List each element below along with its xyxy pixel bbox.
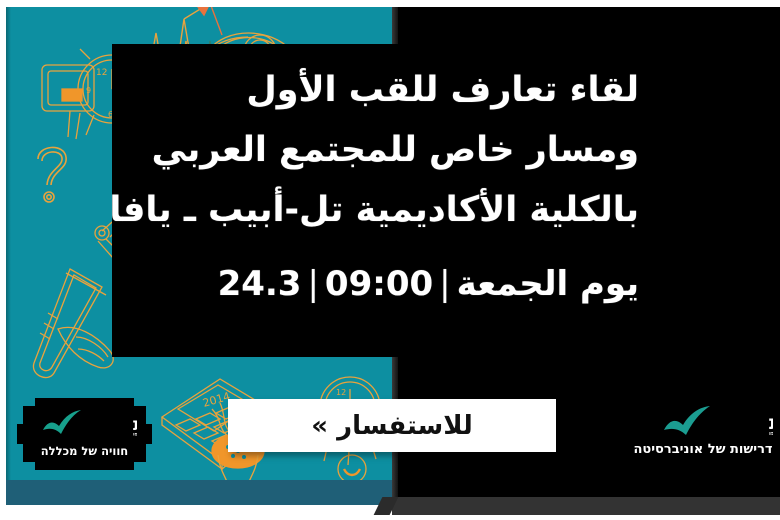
poster-canvas: 12 3 6 9: [0, 0, 780, 520]
svg-text:12: 12: [96, 68, 107, 78]
black-bottom-bar: [392, 497, 780, 515]
event-date: 24.3: [218, 264, 302, 304]
teal-bottom-strip: [6, 480, 395, 505]
event-time: 09:00: [325, 264, 433, 304]
logo-right-wordmark: האקדמית תל-אביב-יפו: [658, 406, 773, 436]
headline-line-1: لقاء تعارف للقب الأول: [112, 60, 639, 120]
logo-left[interactable]: האקדמית תל-אביב-יפו חוויה של מכללה: [17, 398, 152, 470]
logo-right-tagline: דרישות של אוניברסיטה: [630, 442, 776, 457]
event-date-line: يوم الجمعة|09:00|24.3: [112, 256, 639, 312]
date-separator-1: |: [433, 256, 456, 312]
date-separator-2: |: [301, 256, 324, 312]
headline-line-2: ومسار خاص للمجتمع العربي: [112, 120, 639, 180]
svg-text:תל-אביב-יפו: תל-אביב-יפו: [769, 431, 773, 436]
inquiry-button-label: للاستفسار »: [311, 411, 472, 441]
svg-text:12: 12: [336, 388, 346, 397]
event-day: يوم الجمعة: [457, 264, 639, 304]
headline-text-group: لقاء تعارف للقب الأول ومسار خاص للمجتمع …: [112, 44, 657, 357]
logo-left-tagline: חוויה של מכללה: [17, 444, 152, 458]
svg-text:תל-אביב-יפו: תל-אביב-יפו: [133, 432, 137, 437]
inquiry-button[interactable]: للاستفسار »: [228, 399, 556, 452]
logo-right[interactable]: האקדמית תל-אביב-יפו דרישות של אוניברסיטה: [630, 406, 776, 468]
headline-line-3: بالكلية الأكاديمية تل-أبيب ـ يافا: [112, 180, 639, 240]
logo-left-wordmark: האקדמית תל-אביב-יפו: [37, 410, 137, 436]
